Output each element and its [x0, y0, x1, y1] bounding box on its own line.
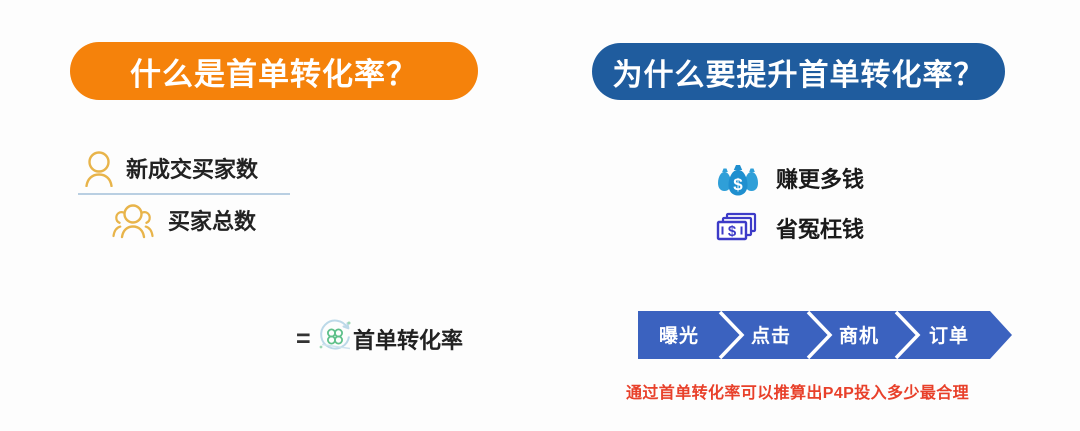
fraction: 新成交买家数 买家总数: [78, 143, 290, 245]
benefit-item-earn-more: $ 赚更多钱: [714, 155, 864, 201]
header-pill-why-improve: 为什么要提升首单转化率？: [592, 43, 1005, 100]
benefit-list: $ 赚更多钱 $ 省冤枉钱: [714, 155, 864, 255]
flow-step-label-0: 曝光: [659, 324, 699, 347]
equals-sign: =: [296, 325, 311, 354]
infographic-canvas: 什么是首单转化率？ 为什么要提升首单转化率？ 新成交买家数: [0, 0, 1080, 431]
benefit-item-earn-more-label: 赚更多钱: [776, 162, 864, 194]
fraction-denominator-label: 买家总数: [168, 204, 256, 236]
svg-text:$: $: [733, 175, 743, 194]
benefit-item-save-waste: $ 省冤枉钱: [714, 205, 864, 251]
footnote-text: 通过首单转化率可以推算出P4P投入多少最合理: [626, 379, 969, 403]
single-person-icon: [82, 149, 116, 187]
conversion-cycle-icon: [316, 317, 354, 355]
fraction-numerator-label: 新成交买家数: [126, 152, 258, 184]
flow-step-label-3: 订单: [929, 324, 969, 347]
flow-step-label-2: 商机: [839, 324, 879, 347]
header-pill-why-improve-label: 为什么要提升首单转化率？: [613, 50, 985, 94]
banknotes-icon: $: [714, 209, 762, 247]
svg-text:$: $: [728, 223, 737, 240]
conversion-funnel-flow: 曝光 点击 商机 订单: [638, 311, 1012, 359]
header-pill-what-is: 什么是首单转化率？: [70, 42, 478, 100]
fraction-numerator: 新成交买家数: [78, 143, 290, 193]
money-bags-icon: $: [714, 159, 762, 197]
conversion-rate-formula: 新成交买家数 买家总数 =: [78, 143, 498, 253]
header-pill-what-is-label: 什么是首单转化率？: [130, 49, 418, 94]
group-people-icon: [112, 201, 154, 239]
benefit-item-save-waste-label: 省冤枉钱: [776, 212, 864, 244]
flow-step-label-1: 点击: [751, 325, 791, 347]
formula-result-label: 首单转化率: [353, 323, 463, 355]
fraction-denominator: 买家总数: [78, 195, 290, 245]
